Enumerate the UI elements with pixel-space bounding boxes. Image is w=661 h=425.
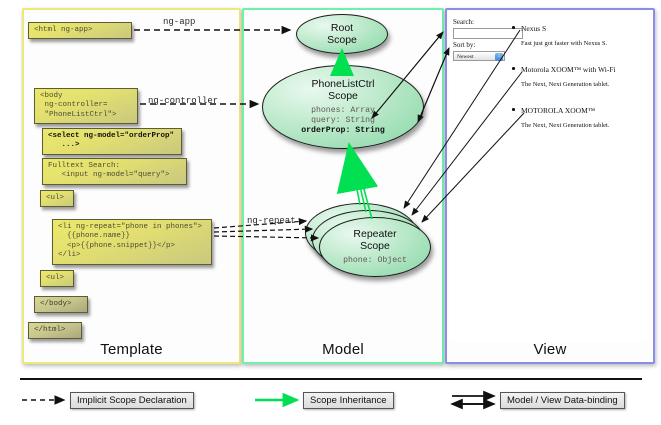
chevron-down-icon: ↕ [495,53,503,61]
scope-repeater-props: phone: Object [343,256,407,266]
arrow-label-ng-app: ng-app [163,17,195,27]
view-phone-item: Motorola XOOM™ with Wi-Fi The Next, Next… [521,65,645,88]
view-phone-name: Motorola XOOM™ with Wi-Fi [521,65,645,74]
view-phone-item: Nexus S Fast just got faster with Nexus … [521,24,645,47]
view-sort-selected-value: Newest [457,54,474,60]
panel-model: Model [242,8,444,364]
view-search-input[interactable] [453,28,523,39]
scope-root: Root Scope [296,14,388,54]
code-box-fulltext-search: Fulltext Search: <input ng-model="query"… [42,158,187,185]
view-phone-name-text: Nexus S [521,24,546,33]
view-phone-name: Nexus S [521,24,645,33]
bullet-icon [512,108,515,111]
code-box-ul-close: <ul> [40,270,74,287]
panel-label-view: View [447,341,653,358]
code-box-body-ng-controller: <body ng-controller= "PhoneListCtrl"> [34,88,138,124]
code-box-body-end: </body> [34,296,88,313]
scope-repeater: Repeater Scope phone: Object [319,217,431,277]
view-phone-name-text: Motorola XOOM™ with Wi-Fi [521,65,616,74]
panel-label-model: Model [244,341,442,358]
diagram-root: Template Model View <html ng-app> <body … [0,0,661,425]
legend-divider [20,378,642,380]
view-browser-content: Search: Sort by: Newest ↕ Nexus S Fast j… [449,12,647,342]
view-sort-label: Sort by: [453,41,475,49]
scope-phonelistctrl-props: phones: Array query: String orderProp: S… [301,106,385,136]
code-box-ul-open: <ul> [40,190,74,207]
view-phone-name: MOTOROLA XOOM™ [521,106,645,115]
legend-item-data-binding: Model / View Data-binding [500,392,625,409]
scope-repeater-title: Repeater Scope [353,228,396,252]
view-phone-snippet: Fast just got faster with Nexus S. [521,40,645,47]
scope-phonelistctrl-title: PhoneListCtrl Scope [311,78,374,102]
scope-root-title: Root Scope [327,22,357,46]
code-box-select-ng-model: <select ng-model="orderProp" ...> [42,128,182,155]
code-box-li-ng-repeat: <li ng-repeat="phone in phones"> {{phone… [52,219,212,265]
view-phone-snippet: The Next, Next Generation tablet. [521,122,645,129]
view-phone-snippet: The Next, Next Generation tablet. [521,81,645,88]
view-phone-name-text: MOTOROLA XOOM™ [521,106,595,115]
legend-item-implicit-scope-declaration: Implicit Scope Declaration [70,392,194,409]
scope-phonelistctrl: PhoneListCtrl Scope phones: Array query:… [262,65,424,149]
scope-prop-phone: phone: Object [343,256,407,266]
code-box-html-end: </html> [28,322,82,339]
panel-label-template: Template [24,341,239,358]
code-box-html-ng-app: <html ng-app> [28,22,132,39]
legend-item-scope-inheritance: Scope Inheritance [303,392,394,409]
scope-prop-query: query: String [301,116,385,126]
arrow-label-ng-controller: ng-controller [148,96,218,106]
view-sort-select[interactable]: Newest ↕ [453,51,505,61]
scope-prop-phones: phones: Array [301,106,385,116]
arrow-label-ng-repeat: ng-repeat [247,216,296,226]
bullet-icon [512,26,515,29]
bullet-icon [512,67,515,70]
view-search-label: Search: [453,18,474,26]
scope-prop-orderprop: orderProp: String [301,126,385,136]
view-phone-item: MOTOROLA XOOM™ The Next, Next Generation… [521,106,645,129]
